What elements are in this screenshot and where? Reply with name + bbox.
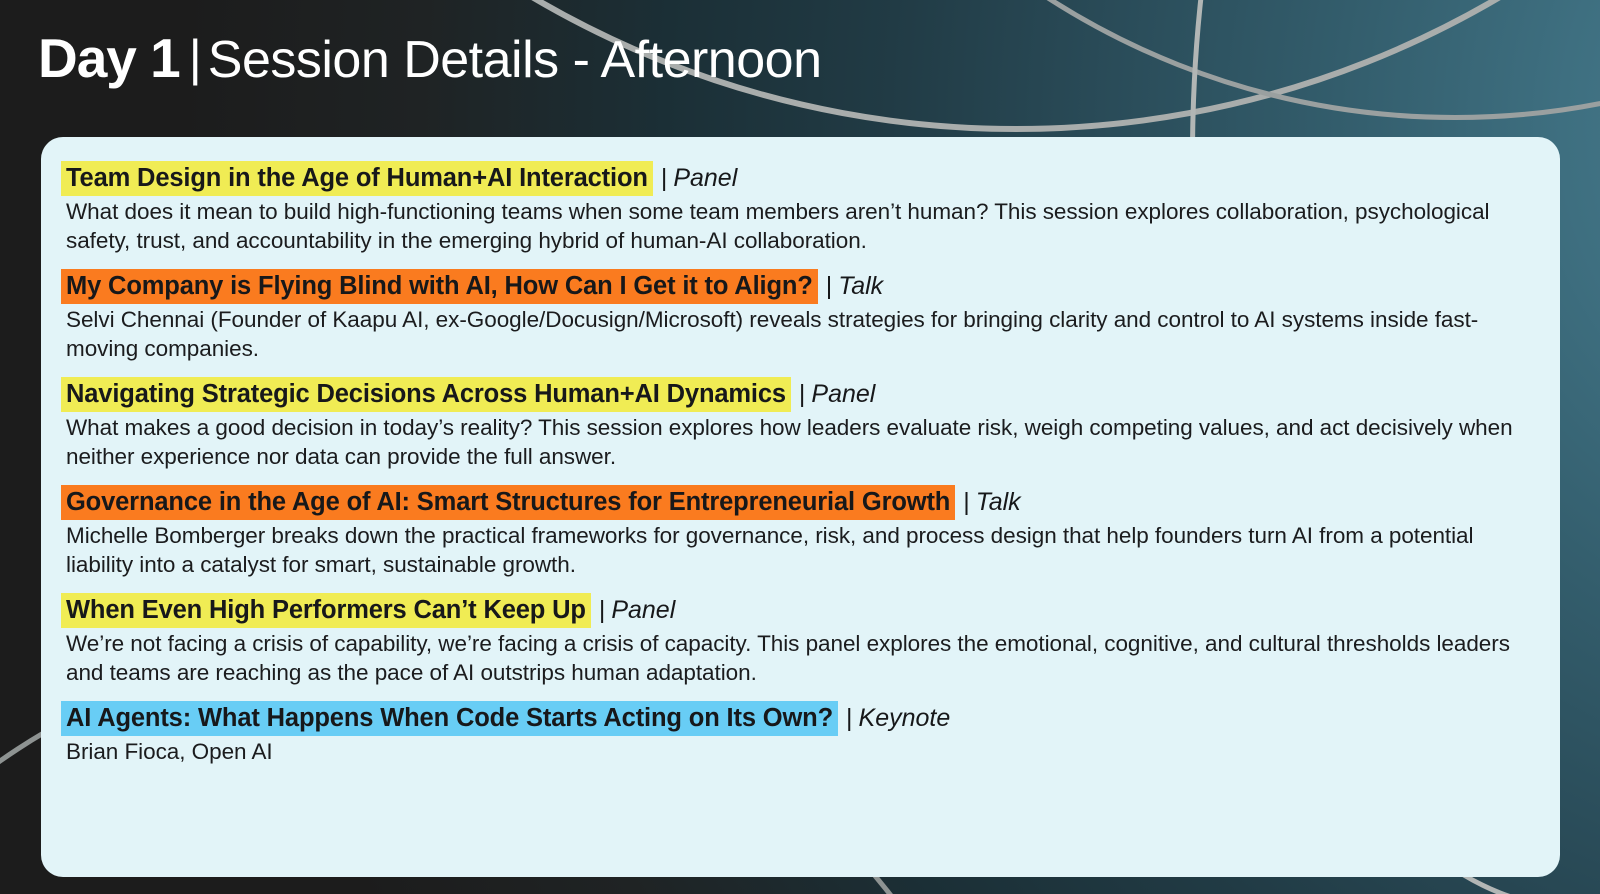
- session-type-label: Talk: [838, 272, 883, 300]
- session-description: What does it mean to build high-function…: [61, 197, 1538, 256]
- session-heading: When Even High Performers Can’t Keep Up|…: [61, 597, 1538, 625]
- session-type-separator: |: [963, 488, 976, 516]
- session-item: My Company is Flying Blind with AI, How …: [61, 273, 1538, 363]
- session-type-separator: |: [846, 704, 859, 732]
- session-heading: Team Design in the Age of Human+AI Inter…: [61, 165, 1538, 193]
- session-title: AI Agents: What Happens When Code Starts…: [61, 701, 838, 736]
- session-type-label: Panel: [673, 164, 737, 192]
- session-description: What makes a good decision in today’s re…: [61, 413, 1538, 472]
- session-item: AI Agents: What Happens When Code Starts…: [61, 705, 1538, 766]
- session-list-card: Team Design in the Age of Human+AI Inter…: [41, 137, 1560, 877]
- page-title: Day 1|Session Details - Afternoon: [38, 30, 822, 90]
- session-title: My Company is Flying Blind with AI, How …: [61, 269, 818, 304]
- session-type-label: Keynote: [859, 704, 951, 732]
- session-heading: AI Agents: What Happens When Code Starts…: [61, 705, 1538, 733]
- session-title: Navigating Strategic Decisions Across Hu…: [61, 377, 791, 412]
- session-type-separator: |: [799, 380, 812, 408]
- session-type-label: Panel: [611, 596, 675, 624]
- session-type: |Talk: [955, 488, 1020, 516]
- session-type: |Talk: [818, 272, 883, 300]
- session-description: Michelle Bomberger breaks down the pract…: [61, 521, 1538, 580]
- session-description: We’re not facing a crisis of capability,…: [61, 629, 1538, 688]
- session-item: Navigating Strategic Decisions Across Hu…: [61, 381, 1538, 471]
- title-day-label: Day 1: [38, 27, 180, 89]
- session-item: When Even High Performers Can’t Keep Up|…: [61, 597, 1538, 687]
- session-heading: Governance in the Age of AI: Smart Struc…: [61, 489, 1538, 517]
- session-title: When Even High Performers Can’t Keep Up: [61, 593, 591, 628]
- session-type-separator: |: [599, 596, 612, 624]
- session-type: |Keynote: [838, 704, 950, 732]
- session-type-label: Panel: [811, 380, 875, 408]
- session-type: |Panel: [653, 164, 737, 192]
- session-description: Selvi Chennai (Founder of Kaapu AI, ex-G…: [61, 305, 1538, 364]
- session-type-separator: |: [826, 272, 839, 300]
- session-type: |Panel: [591, 596, 675, 624]
- title-subtitle: Session Details - Afternoon: [208, 31, 822, 89]
- session-heading: Navigating Strategic Decisions Across Hu…: [61, 381, 1538, 409]
- session-description: Brian Fioca, Open AI: [61, 737, 1538, 766]
- session-type-label: Talk: [976, 488, 1021, 516]
- session-title: Team Design in the Age of Human+AI Inter…: [61, 161, 653, 196]
- slide: Day 1|Session Details - Afternoon Team D…: [0, 0, 1600, 894]
- session-item: Governance in the Age of AI: Smart Struc…: [61, 489, 1538, 579]
- session-heading: My Company is Flying Blind with AI, How …: [61, 273, 1538, 301]
- session-item: Team Design in the Age of Human+AI Inter…: [61, 165, 1538, 255]
- session-title: Governance in the Age of AI: Smart Struc…: [61, 485, 955, 520]
- title-separator: |: [180, 30, 208, 86]
- session-type: |Panel: [791, 380, 875, 408]
- session-type-separator: |: [661, 164, 674, 192]
